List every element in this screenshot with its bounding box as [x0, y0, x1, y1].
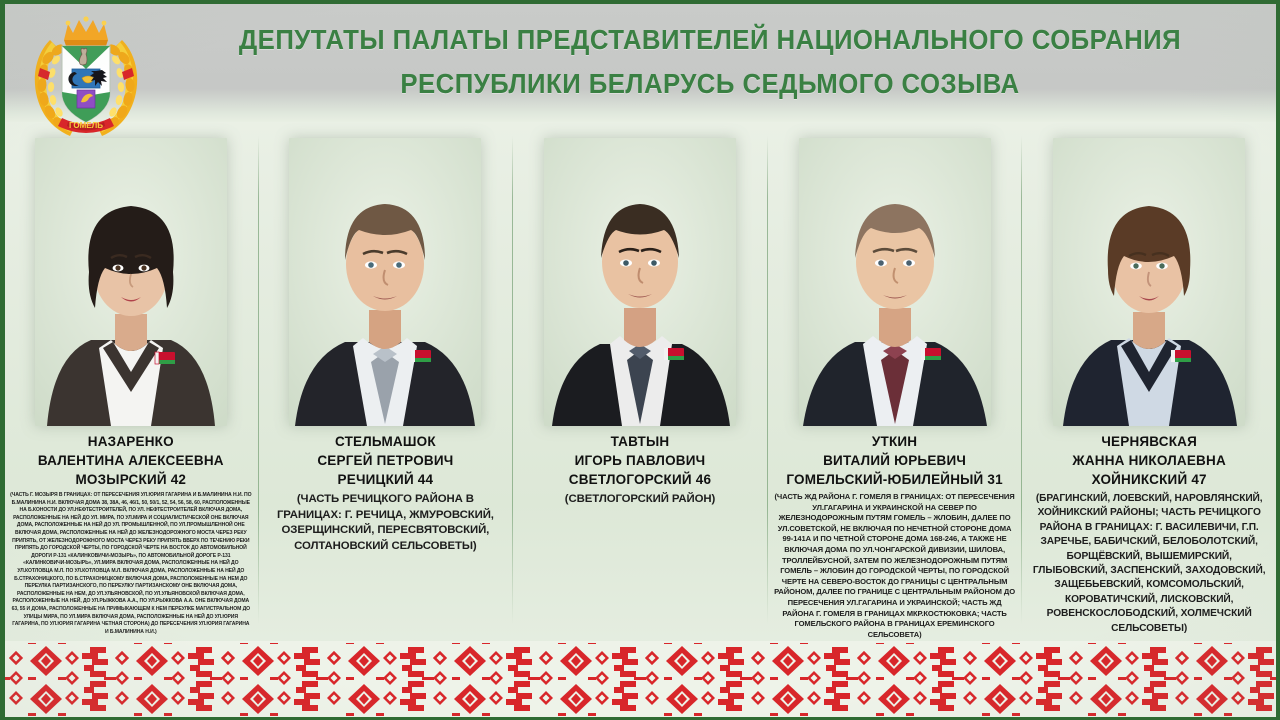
belarusian-folk-ornament-band	[4, 641, 1276, 717]
poster-root: ДЕПУТАТЫ ПАЛАТЫ ПРЕДСТАВИТЕЛЕЙ НАЦИОНАЛЬ…	[0, 0, 1280, 720]
deputy-surname: ЧЕРНЯВСКАЯ	[1026, 433, 1272, 452]
deputy-names: НАЗАРЕНКО ВАЛЕНТИНА АЛЕКСЕЕВНА МОЗЫРСКИЙ…	[8, 433, 254, 489]
deputy-district: РЕЧИЦКИЙ 44	[263, 470, 509, 489]
deputies-grid: НАЗАРЕНКО ВАЛЕНТИНА АЛЕКСЕЕВНА МОЗЫРСКИЙ…	[4, 122, 1276, 720]
deputy-district: СВЕТЛОГОРСКИЙ 46	[517, 470, 763, 489]
gomel-region-coat-of-arms-icon: ГОМЕЛЬ	[16, 6, 156, 146]
deputy-district-description: (ЧАСТЬ ЖД РАЙОНА Г. ГОМЕЛЯ В ГРАНИЦАХ: О…	[772, 492, 1018, 640]
deputy-given-name: ВИТАЛИЙ ЮРЬЕВИЧ	[772, 452, 1018, 471]
deputy-card-1[interactable]: НАЗАРЕНКО ВАЛЕНТИНА АЛЕКСЕЕВНА МОЗЫРСКИЙ…	[4, 122, 258, 720]
portrait-chernyavskaya	[1053, 138, 1245, 426]
deputy-district-description: (ЧАСТЬ Г. МОЗЫРЯ В ГРАНИЦАХ: ОТ ПЕРЕСЕЧЕ…	[8, 492, 254, 636]
deputy-surname: ТАВТЫН	[517, 433, 763, 452]
deputy-district-description: (СВЕТЛОГОРСКИЙ РАЙОН)	[517, 492, 763, 508]
poster-title: ДЕПУТАТЫ ПАЛАТЫ ПРЕДСТАВИТЕЛЕЙ НАЦИОНАЛЬ…	[170, 18, 1250, 106]
deputy-surname: НАЗАРЕНКО	[8, 433, 254, 452]
title-line-2: РЕСПУБЛИКИ БЕЛАРУСЬ СЕДЬМОГО СОЗЫВА	[213, 62, 1207, 106]
portrait-utkin	[799, 138, 991, 426]
portrait-tavtyn	[544, 138, 736, 426]
deputy-names: ТАВТЫН ИГОРЬ ПАВЛОВИЧ СВЕТЛОГОРСКИЙ 46	[517, 433, 763, 489]
deputy-district: ХОЙНИКСКИЙ 47	[1026, 470, 1272, 489]
deputy-district-description: (ЧАСТЬ РЕЧИЦКОГО РАЙОНА В ГРАНИЦАХ: Г. Р…	[263, 492, 509, 554]
deputy-card-2[interactable]: СТЕЛЬМАШОК СЕРГЕЙ ПЕТРОВИЧ РЕЧИЦКИЙ 44 (…	[259, 122, 513, 720]
deputy-card-5[interactable]: ЧЕРНЯВСКАЯ ЖАННА НИКОЛАЕВНА ХОЙНИКСКИЙ 4…	[1022, 122, 1276, 720]
deputy-given-name: ЖАННА НИКОЛАЕВНА	[1026, 452, 1272, 471]
deputy-names: УТКИН ВИТАЛИЙ ЮРЬЕВИЧ ГОМЕЛЬСКИЙ-ЮБИЛЕЙН…	[772, 433, 1018, 489]
deputy-surname: УТКИН	[772, 433, 1018, 452]
deputy-given-name: ИГОРЬ ПАВЛОВИЧ	[517, 452, 763, 471]
deputy-names: СТЕЛЬМАШОК СЕРГЕЙ ПЕТРОВИЧ РЕЧИЦКИЙ 44	[263, 433, 509, 489]
deputy-names: ЧЕРНЯВСКАЯ ЖАННА НИКОЛАЕВНА ХОЙНИКСКИЙ 4…	[1026, 433, 1272, 489]
deputy-given-name: ВАЛЕНТИНА АЛЕКСЕЕВНА	[8, 452, 254, 471]
deputy-card-3[interactable]: ТАВТЫН ИГОРЬ ПАВЛОВИЧ СВЕТЛОГОРСКИЙ 46 (…	[513, 122, 767, 720]
deputy-district-description: (БРАГИНСКИЙ, ЛОЕВСКИЙ, НАРОВЛЯНСКИЙ, ХОЙ…	[1026, 492, 1272, 636]
deputy-district: ГОМЕЛЬСКИЙ-ЮБИЛЕЙНЫЙ 31	[772, 470, 1018, 489]
poster-header: ДЕПУТАТЫ ПАЛАТЫ ПРЕДСТАВИТЕЛЕЙ НАЦИОНАЛЬ…	[0, 4, 1276, 122]
deputy-surname: СТЕЛЬМАШОК	[263, 433, 509, 452]
portrait-stelmashok	[289, 138, 481, 426]
deputy-district: МОЗЫРСКИЙ 42	[8, 470, 254, 489]
deputy-given-name: СЕРГЕЙ ПЕТРОВИЧ	[263, 452, 509, 471]
portrait-nazarenko	[35, 138, 227, 426]
title-line-1: ДЕПУТАТЫ ПАЛАТЫ ПРЕДСТАВИТЕЛЕЙ НАЦИОНАЛЬ…	[213, 18, 1207, 62]
deputy-card-4[interactable]: УТКИН ВИТАЛИЙ ЮРЬЕВИЧ ГОМЕЛЬСКИЙ-ЮБИЛЕЙН…	[768, 122, 1022, 720]
